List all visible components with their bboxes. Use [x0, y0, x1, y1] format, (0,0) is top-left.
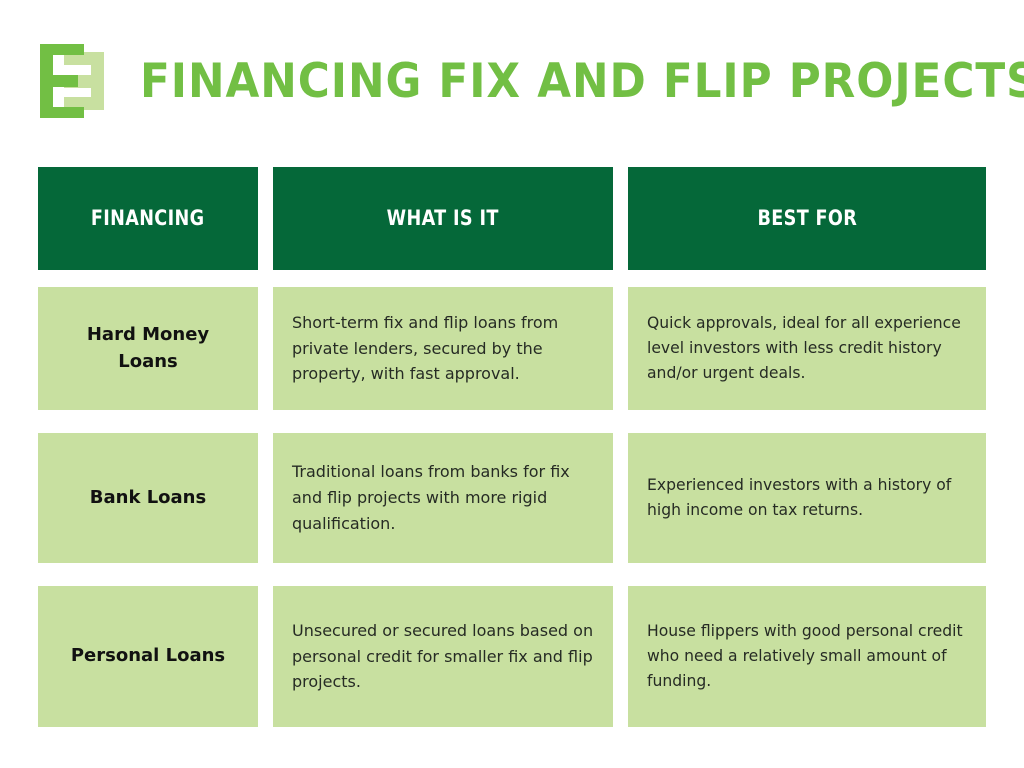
cell-financing-name: Personal Loans [38, 586, 258, 727]
financing-name-label: Hard Money Loans [56, 322, 240, 374]
column-header-what-is-it: WHAT IS IT [273, 167, 613, 270]
cell-what-is-it: Short-term fix and flip loans from priva… [273, 287, 613, 410]
comparison-table: FINANCING WHAT IS IT BEST FOR Hard Money… [38, 167, 986, 727]
page-title: FINANCING FIX AND FLIP PROJECTS [140, 58, 1024, 105]
what-is-it-text: Short-term fix and flip loans from priva… [292, 310, 595, 388]
cell-financing-name: Bank Loans [38, 433, 258, 563]
cell-best-for: House flippers with good personal credit… [628, 586, 986, 727]
cell-best-for: Experienced investors with a history of … [628, 433, 986, 563]
column-header-best-for: BEST FOR [628, 167, 986, 270]
cell-best-for: Quick approvals, ideal for all experienc… [628, 287, 986, 410]
best-for-text: Experienced investors with a history of … [647, 473, 968, 524]
column-header-label: BEST FOR [757, 208, 857, 229]
column-header-financing: FINANCING [38, 167, 258, 270]
table-row: Hard Money Loans Short-term fix and flip… [38, 287, 986, 410]
column-header-label: FINANCING [91, 208, 205, 229]
best-for-text: House flippers with good personal credit… [647, 619, 968, 695]
header-title-bar: FINANCING FIX AND FLIP PROJECTS [38, 38, 988, 124]
table-row: Personal Loans Unsecured or secured loan… [38, 586, 986, 727]
infographic-page: FINANCING FIX AND FLIP PROJECTS FINANCIN… [0, 0, 1024, 768]
stylized-letter-e-logo-icon [38, 42, 110, 120]
brand-logo [38, 42, 110, 120]
what-is-it-text: Traditional loans from banks for fix and… [292, 459, 595, 537]
financing-name-label: Personal Loans [71, 643, 225, 669]
what-is-it-text: Unsecured or secured loans based on pers… [292, 618, 595, 696]
column-header-label: WHAT IS IT [387, 208, 499, 229]
table-row: Bank Loans Traditional loans from banks … [38, 433, 986, 563]
best-for-text: Quick approvals, ideal for all experienc… [647, 311, 968, 387]
financing-name-label: Bank Loans [90, 485, 206, 511]
cell-financing-name: Hard Money Loans [38, 287, 258, 410]
cell-what-is-it: Traditional loans from banks for fix and… [273, 433, 613, 563]
cell-what-is-it: Unsecured or secured loans based on pers… [273, 586, 613, 727]
table-header-row: FINANCING WHAT IS IT BEST FOR [38, 167, 986, 270]
